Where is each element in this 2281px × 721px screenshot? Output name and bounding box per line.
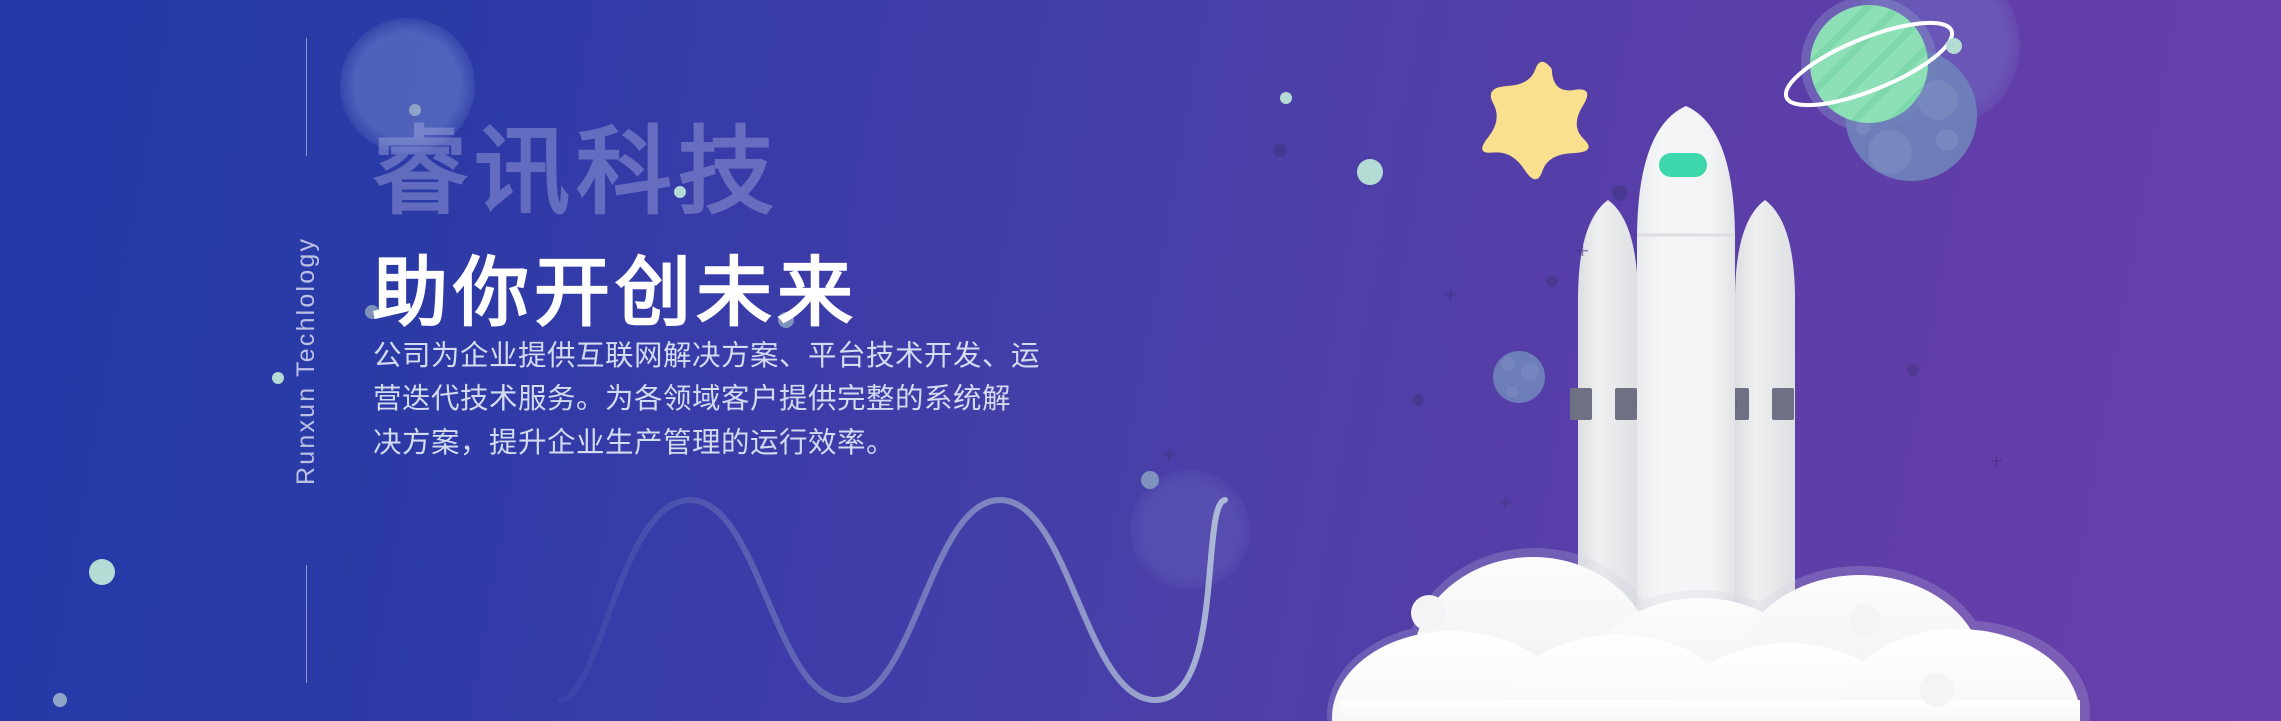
decor-dot [1920,673,1954,707]
decor-dot [1849,604,1881,636]
rocket-nozzles [1591,615,1782,721]
decor-dot [1357,159,1383,185]
sparkle-plus-icon: + [1576,240,1589,262]
sparkle-plus-icon: + [1163,444,1176,466]
rail-line-bottom [306,565,307,683]
decor-dot [1141,471,1159,489]
page-title: 助你开创未来 [372,254,858,334]
brand-vertical-text: Runxun Techlology [292,156,321,565]
decor-dot [53,693,67,707]
decor-dot [1946,38,1962,54]
rail-line-top [306,38,307,156]
decor-dot [1412,394,1424,406]
background-blob-right [1850,0,2020,130]
decor-dot [1280,92,1292,104]
cloud-back-row [1413,557,1984,721]
rocket-body [1637,106,1735,625]
decor-dot [1411,595,1447,631]
subtitle-line: 公司为企业提供互联网解决方案、平台技术开发、运 [373,335,1163,378]
rocket-booster-left [1570,200,1658,615]
ghost-company-name: 睿讯科技 [372,125,780,221]
cloud-front-row [1332,629,2080,721]
subtitle-line: 营迭代技术服务。为各领域客户提供完整的系统解 [373,378,1163,421]
rocket-window [1659,153,1707,177]
subtitle-line: 决方案，提升企业生产管理的运行效率。 [373,422,1163,465]
hero-banner: +++++ Runxun Techlology 睿讯科技 助你开创未来 公司为企… [0,0,2281,721]
decor-dot [1546,275,1558,287]
decor-dot [1273,143,1287,157]
decor-dot [89,559,115,585]
decor-dot [409,104,421,116]
background-blob-center [1130,470,1250,590]
decor-dot [1612,185,1628,201]
decor-dot [1907,364,1919,376]
sparkle-plus-icon: + [1444,284,1457,306]
sparkle-plus-icon: + [1990,450,2003,472]
sparkle-plus-icon: + [1499,492,1512,514]
moon-large [1845,49,1977,181]
page-subtitle: 公司为企业提供互联网解决方案、平台技术开发、运营迭代技术服务。为各领域客户提供完… [373,335,1163,465]
brand-rail: Runxun Techlology [276,38,336,683]
rocket-booster-right [1715,200,1795,615]
